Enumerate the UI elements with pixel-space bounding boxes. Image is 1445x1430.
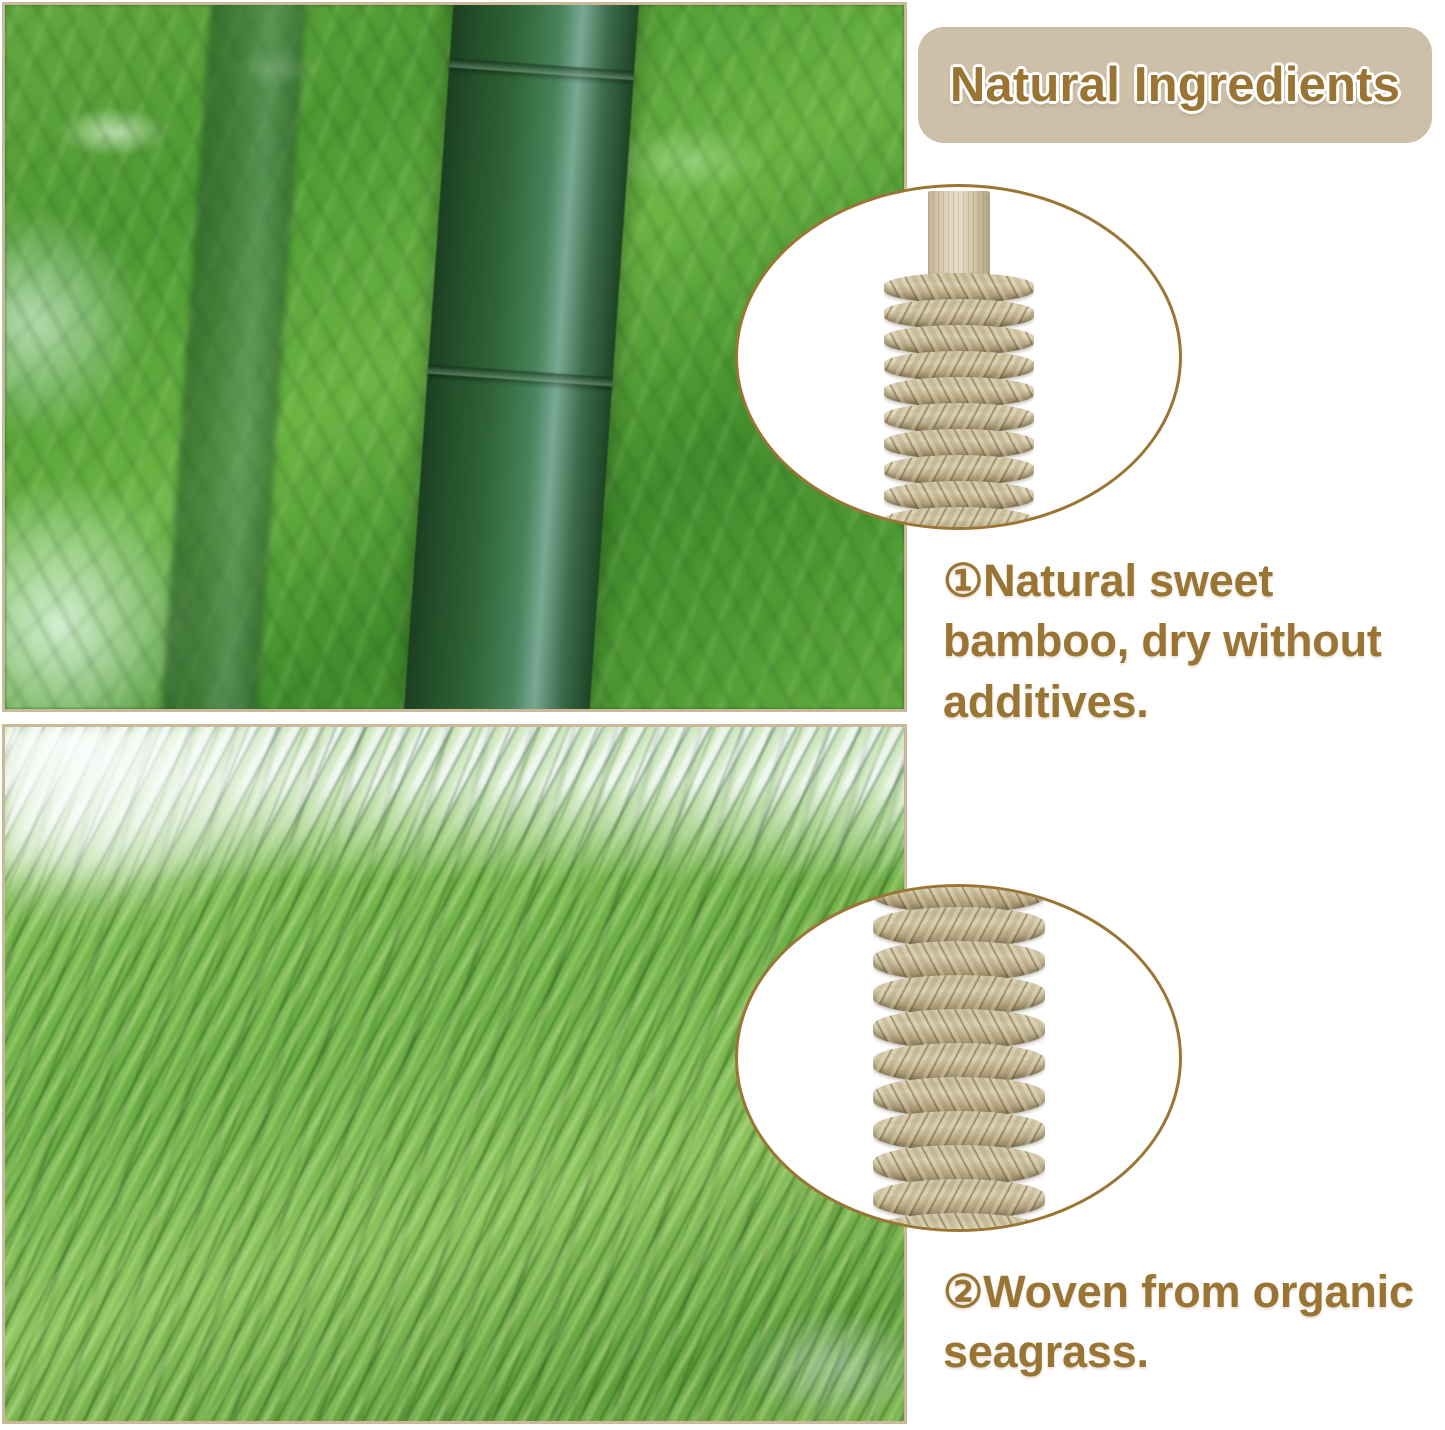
bamboo-stick-inset	[735, 184, 1182, 530]
seagrass-coil	[884, 507, 1034, 530]
bamboo-grain-texture	[928, 191, 990, 283]
title-banner: Natural Ingredients	[918, 27, 1432, 143]
bamboo-core-tip	[928, 191, 990, 283]
feature-marker-2: ②	[943, 1266, 983, 1317]
bamboo-node-ring	[449, 58, 634, 80]
seagrass-weave-inset	[735, 884, 1182, 1232]
infographic-canvas: Natural Ingredients ①Natural sweet bambo…	[0, 0, 1445, 1430]
feature-caption-2: ②Woven from organic seagrass.	[943, 1262, 1443, 1383]
seagrass-coil-stack	[873, 884, 1045, 1232]
feature-text-1: Natural sweet bamboo, dry without additi…	[943, 555, 1382, 727]
bamboo-node-ring	[427, 365, 612, 387]
feature-marker-1: ①	[943, 555, 983, 606]
feature-text-2: Woven from organic seagrass.	[943, 1266, 1414, 1377]
page-title: Natural Ingredients	[950, 57, 1400, 113]
seagrass-highlight	[5, 727, 347, 935]
seagrass-coil-stack	[884, 273, 1034, 530]
feature-caption-1: ①Natural sweet bamboo, dry without addit…	[943, 551, 1438, 732]
